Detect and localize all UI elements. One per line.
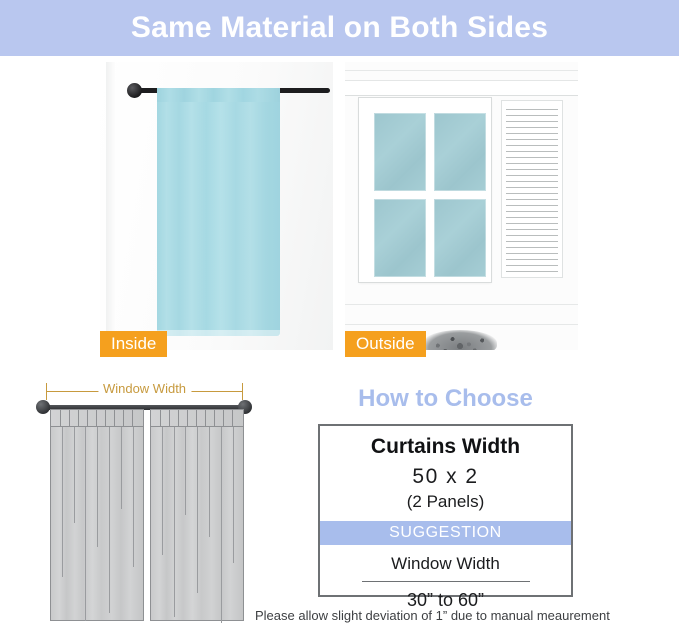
info-box-bottom: Window Width 30” to 60” xyxy=(320,545,571,611)
window-frame xyxy=(359,98,491,282)
suggestion-band: SUGGESTION xyxy=(320,521,571,545)
diagram-curtain-panel xyxy=(50,409,144,621)
tag-inside: Inside xyxy=(100,331,167,357)
wall-edge xyxy=(106,62,115,350)
curtains-width-label: Curtains Width xyxy=(320,435,571,459)
panel-header xyxy=(151,410,243,427)
header-banner: Same Material on Both Sides xyxy=(0,0,679,56)
measurement-disclaimer: Please allow slight deviation of 1” due … xyxy=(255,608,675,623)
info-box-top: Curtains Width 50 x 2 (2 Panels) xyxy=(320,426,571,512)
window-pane xyxy=(374,199,426,277)
banner-title: Same Material on Both Sides xyxy=(131,11,548,45)
window-width-label: Window Width xyxy=(320,554,571,574)
louvered-shutter xyxy=(501,100,563,278)
how-to-choose-title: How to Choose xyxy=(318,385,573,413)
tag-outside: Outside xyxy=(345,331,426,357)
photo-outside-view xyxy=(345,62,578,350)
divider xyxy=(362,581,530,582)
photo-inside-view xyxy=(100,62,333,350)
panel-header xyxy=(51,410,143,427)
window-pane xyxy=(374,113,426,191)
aqua-curtain-panel xyxy=(157,88,280,336)
curtain-header xyxy=(157,88,280,102)
siding-line xyxy=(345,70,578,71)
curtain-panels-diagram xyxy=(28,398,260,623)
panels-note: (2 Panels) xyxy=(320,492,571,512)
siding-line xyxy=(345,304,578,305)
diagram-curtain-panel xyxy=(150,409,244,621)
curtains-size-value: 50 x 2 xyxy=(320,465,571,489)
diagram-finial-left-icon xyxy=(36,400,50,414)
window-header-trim xyxy=(345,80,578,96)
curtain-hem xyxy=(157,330,280,336)
size-info-box: Curtains Width 50 x 2 (2 Panels) SUGGEST… xyxy=(318,424,573,597)
siding-line xyxy=(345,324,578,325)
window-pane xyxy=(434,199,486,277)
shrub xyxy=(423,330,497,350)
window-pane xyxy=(434,113,486,191)
rod-finial-icon xyxy=(127,83,142,98)
dimension-label: Window Width xyxy=(98,381,191,396)
